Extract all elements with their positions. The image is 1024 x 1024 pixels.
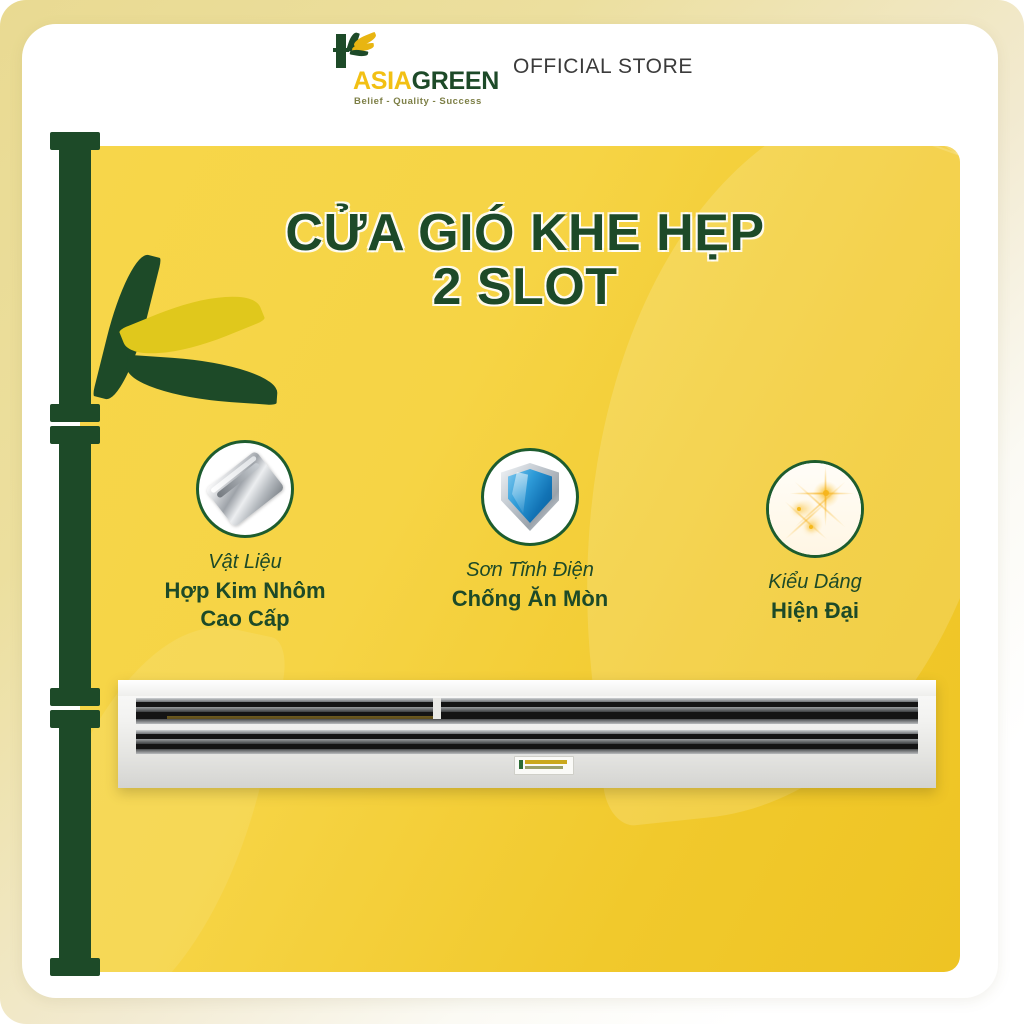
feature-design-title: Kiểu Dáng [690, 570, 940, 595]
sparkle-core-2 [797, 507, 801, 511]
slot-1-blade [136, 707, 918, 712]
sticker-text-2 [525, 766, 563, 769]
aluminium-bar-shape [205, 450, 285, 527]
feature-material-sub-1: Hợp Kim Nhôm [120, 577, 370, 605]
headline-line-2: 2 SLOT [110, 260, 940, 314]
product-frame [118, 680, 936, 788]
headline-line-1: CỬA GIÓ KHE HẸP [110, 206, 940, 260]
shield-icon [481, 448, 579, 546]
feature-material-sub-2: Cao Cấp [120, 605, 370, 633]
sparkle-icon [766, 460, 864, 558]
logo-stalk-lower [336, 52, 346, 68]
feature-coating-sub-1: Chống Ăn Mòn [405, 585, 655, 613]
feature-coating-title: Sơn Tĩnh Điện [405, 558, 655, 583]
linear-slot-diffuser-photo [118, 680, 936, 788]
slot-1-highlight [136, 698, 918, 702]
sparkle-ray-h1 [789, 492, 855, 495]
asia-green-sticker [514, 756, 574, 775]
sparkle-core-3 [809, 525, 813, 529]
aluminium-bar-icon [196, 440, 294, 538]
product-bevel [118, 680, 936, 696]
slot-2-lowlight [136, 749, 918, 754]
bamboo-leaf-dark-right [125, 355, 279, 406]
logo-green-text: GREEN [412, 67, 499, 95]
logo-wordmark: ASIAGREEN [353, 68, 493, 94]
brand-header: ASIAGREEN Belief - Quality - Success OFF… [0, 32, 1024, 107]
screenshot-root: ASIAGREEN Belief - Quality - Success OFF… [0, 0, 1024, 1024]
page-title: CỬA GIÓ KHE HẸP 2 SLOT [110, 206, 940, 314]
bamboo-logo-icon [331, 32, 493, 68]
slot-2-highlight [136, 730, 918, 734]
product-slot-1 [136, 698, 918, 724]
feature-material-title: Vật Liệu [120, 550, 370, 575]
feature-design: Kiểu Dáng Hiện Đại [690, 460, 940, 625]
feature-coating: Sơn Tĩnh Điện Chống Ăn Mòn [405, 448, 655, 613]
sticker-logo-mark [519, 760, 523, 769]
asia-green-logo: ASIAGREEN Belief - Quality - Success [331, 32, 493, 107]
feature-material: Vật Liệu Hợp Kim Nhôm Cao Cấp [120, 440, 370, 633]
product-slot-2 [136, 730, 918, 754]
official-store-label: OFFICIAL STORE [513, 55, 693, 79]
slot-1-lowlight [136, 719, 918, 724]
feature-list: Vật Liệu Hợp Kim Nhôm Cao Cấp Sơn Tĩnh Đ… [120, 440, 940, 633]
feature-design-sub-1: Hiện Đại [690, 597, 940, 625]
logo-tagline: Belief - Quality - Success [354, 96, 493, 107]
logo-stalk-upper [336, 34, 346, 48]
logo-asia-text: ASIA [353, 67, 412, 95]
sticker-text-1 [525, 760, 567, 764]
slot-2-blade [136, 739, 918, 744]
shield-shape [501, 463, 559, 531]
